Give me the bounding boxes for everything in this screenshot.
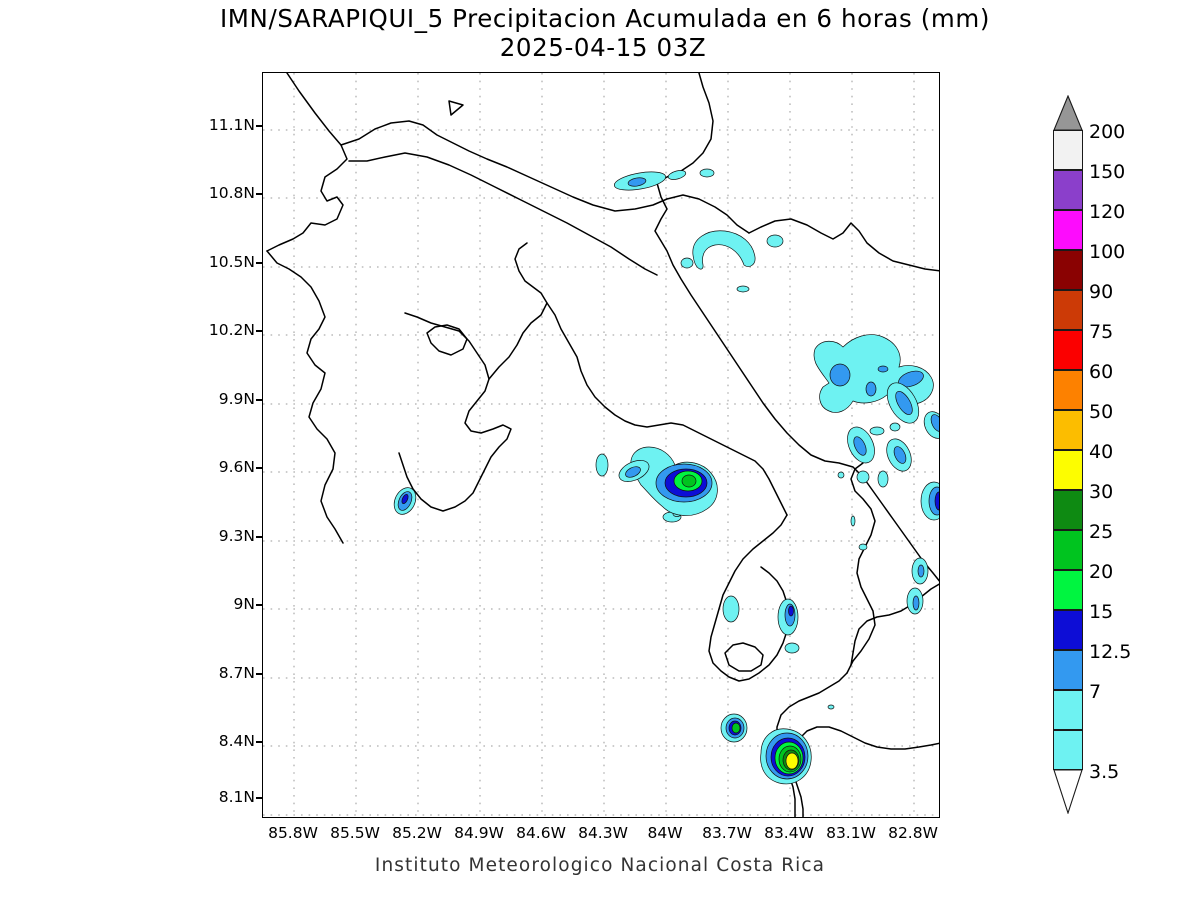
colorbar-label-25: 25 <box>1089 521 1113 543</box>
colorbar-legend[interactable]: 200 150 120 100 90 75 60 50 40 30 25 20 … <box>1053 95 1083 810</box>
colorbar-label-75: 75 <box>1089 321 1113 343</box>
y-tick-mark <box>256 604 263 606</box>
y-tick-label: 10.8N <box>203 184 255 202</box>
colorbar-cell-15[interactable] <box>1053 610 1083 650</box>
y-tick-label: 9.6N <box>203 458 255 476</box>
colorbar-cell-30[interactable] <box>1053 490 1083 530</box>
colorbar-cell-200[interactable] <box>1053 130 1083 170</box>
y-tick-label: 8.4N <box>203 732 255 750</box>
y-tick-label: 11.1N <box>203 116 255 134</box>
colorbar-label-120: 120 <box>1089 201 1125 223</box>
chart-subtitle: 2025-04-15 03Z <box>0 33 1200 62</box>
colorbar-label-60: 60 <box>1089 361 1113 383</box>
y-tick-mark <box>256 673 263 675</box>
colorbar-arrow-top <box>1053 95 1083 131</box>
footer-attribution: Instituto Meteorologico Nacional Costa R… <box>0 855 1200 876</box>
colorbar-cell-75[interactable] <box>1053 330 1083 370</box>
y-tick-mark <box>256 330 263 332</box>
colorbar-label-90: 90 <box>1089 281 1113 303</box>
colorbar-cell-120[interactable] <box>1053 210 1083 250</box>
y-tick-label: 9.3N <box>203 527 255 545</box>
map-gridlines <box>263 73 940 818</box>
colorbar-cell-90[interactable] <box>1053 290 1083 330</box>
x-tick-label: 84.9W <box>454 824 504 842</box>
colorbar-cell-7[interactable] <box>1053 690 1083 730</box>
colorbar-label-20: 20 <box>1089 561 1113 583</box>
colorbar-label-150: 150 <box>1089 161 1125 183</box>
x-tick-label: 83.1W <box>826 824 876 842</box>
y-tick-mark <box>256 467 263 469</box>
colorbar-cell-60[interactable] <box>1053 370 1083 410</box>
x-tick-label: 84W <box>647 824 682 842</box>
y-tick-label: 10.5N <box>203 253 255 271</box>
map-plot-area[interactable] <box>262 72 940 818</box>
y-tick-mark <box>256 399 263 401</box>
y-tick-mark <box>256 741 263 743</box>
colorbar-label-12.5: 12.5 <box>1089 641 1131 663</box>
x-tick-label: 85.5W <box>330 824 380 842</box>
colorbar-label-100: 100 <box>1089 241 1125 263</box>
colorbar-label-200: 200 <box>1089 121 1125 143</box>
x-tick-label: 83.7W <box>702 824 752 842</box>
precipitation-map <box>263 73 940 818</box>
y-tick-mark <box>256 125 263 127</box>
colorbar-cell-50[interactable] <box>1053 410 1083 450</box>
y-tick-label: 10.2N <box>203 321 255 339</box>
y-tick-mark <box>256 262 263 264</box>
y-tick-mark <box>256 797 263 799</box>
colorbar-cell-150[interactable] <box>1053 170 1083 210</box>
y-tick-label: 9.9N <box>203 390 255 408</box>
colorbar-arrow-bottom <box>1053 769 1083 814</box>
colorbar-cell-3.5[interactable] <box>1053 730 1083 770</box>
x-tick-label: 83.4W <box>764 824 814 842</box>
colorbar-label-15: 15 <box>1089 601 1113 623</box>
colorbar-label-3.5: 3.5 <box>1089 761 1119 783</box>
x-tick-label: 82.8W <box>888 824 938 842</box>
colorbar-cell-20[interactable] <box>1053 570 1083 610</box>
colorbar-label-40: 40 <box>1089 441 1113 463</box>
chart-title-block: IMN/SARAPIQUI_5 Precipitacion Acumulada … <box>0 4 1200 62</box>
colorbar-label-7: 7 <box>1089 681 1101 703</box>
x-tick-label: 85.2W <box>392 824 442 842</box>
y-tick-label: 8.1N <box>203 788 255 806</box>
x-tick-label: 84.6W <box>516 824 566 842</box>
y-tick-label: 9N <box>203 595 255 613</box>
y-tick-label: 8.7N <box>203 664 255 682</box>
colorbar-cell-100[interactable] <box>1053 250 1083 290</box>
y-tick-mark <box>256 536 263 538</box>
y-tick-mark <box>256 193 263 195</box>
colorbar-label-30: 30 <box>1089 481 1113 503</box>
x-tick-label: 85.8W <box>268 824 318 842</box>
x-tick-label: 84.3W <box>578 824 628 842</box>
colorbar-label-50: 50 <box>1089 401 1113 423</box>
page-title: IMN/SARAPIQUI_5 Precipitacion Acumulada … <box>0 4 1200 33</box>
precipitation-contours <box>390 73 940 784</box>
colorbar-cell-40[interactable] <box>1053 450 1083 490</box>
colorbar-cell-25[interactable] <box>1053 530 1083 570</box>
colorbar-cell-12.5[interactable] <box>1053 650 1083 690</box>
